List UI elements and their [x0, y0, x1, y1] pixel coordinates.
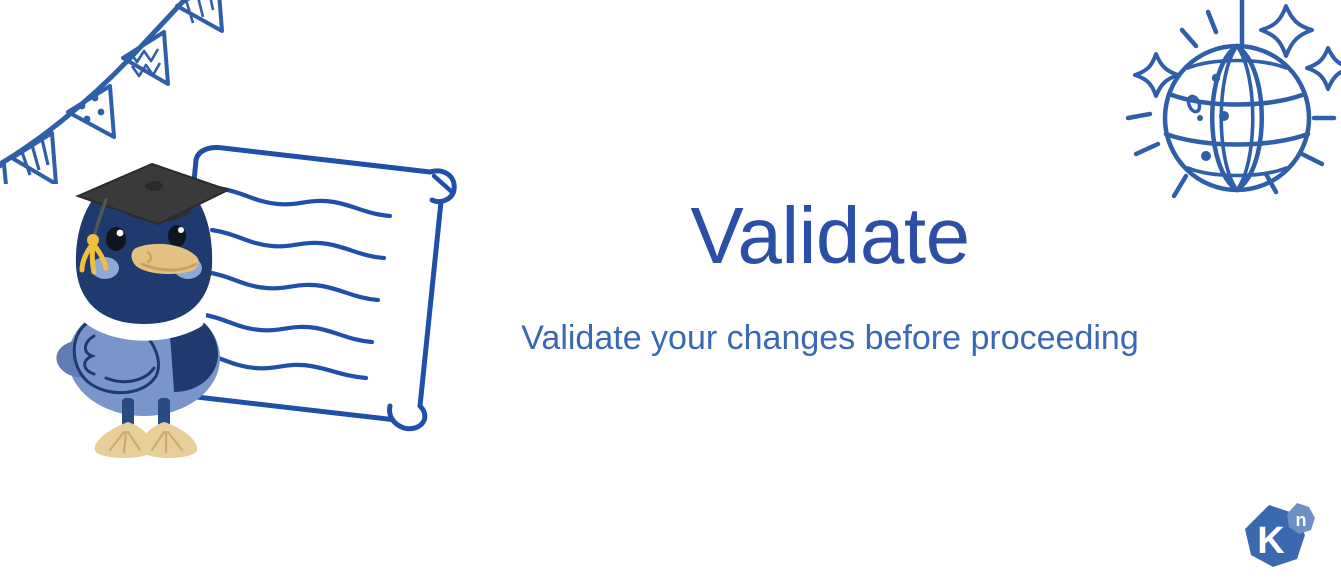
kn-logo-letter-n: n: [1296, 510, 1307, 530]
slide-canvas: Validate Validate your changes before pr…: [0, 0, 1341, 585]
page-title: Validate: [470, 196, 1190, 276]
graduate-bird-with-scroll-illustration: [48, 130, 468, 475]
kn-logo: K n: [1235, 499, 1321, 575]
text-block: Validate Validate your changes before pr…: [470, 196, 1190, 357]
kn-logo-letter-k: K: [1257, 520, 1285, 562]
page-subtitle: Validate your changes before proceeding: [470, 320, 1190, 357]
